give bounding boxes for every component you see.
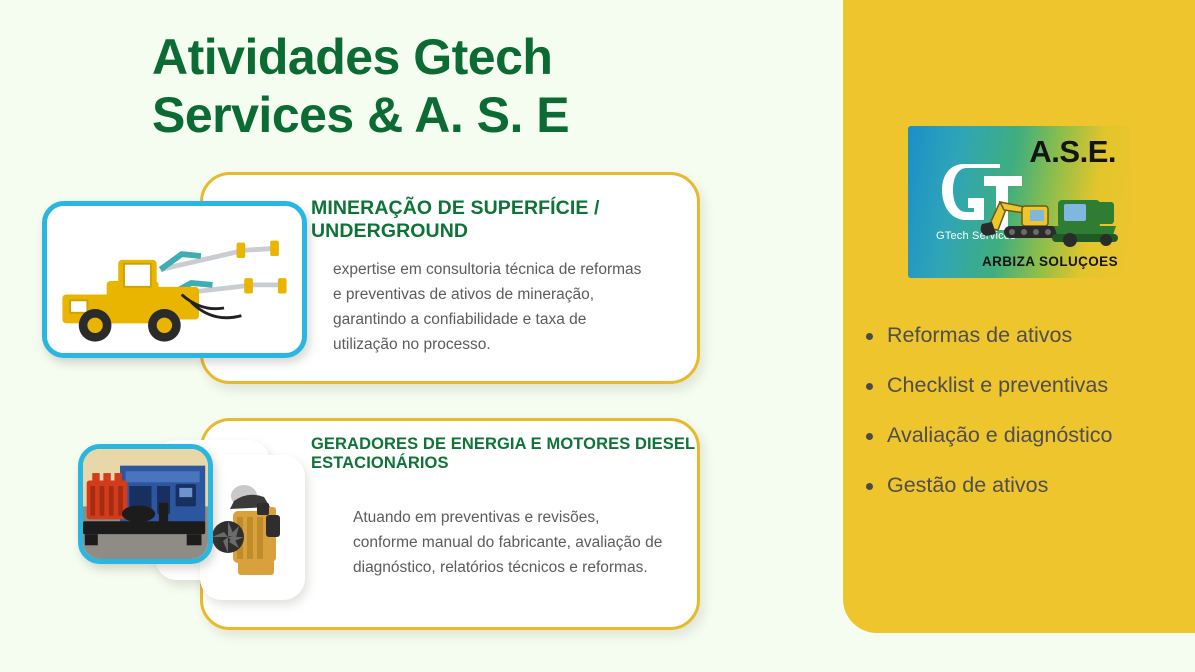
bullet-dot-icon: [866, 483, 873, 490]
list-item-label: Reformas de ativos: [887, 322, 1072, 349]
list-item-label: Gestão de ativos: [887, 472, 1048, 499]
drill-jumbo-icon: [47, 206, 302, 357]
list-item-label: Checklist e preventivas: [887, 372, 1108, 399]
card-heading-generators: GERADORES DE ENERGIA E MOTORES DIESEL ES…: [311, 435, 696, 474]
list-item[interactable]: Checklist e preventivas: [866, 372, 1176, 399]
logo-partner-label: A.S.E.: [1029, 134, 1116, 170]
machinery-illustration-icon: [974, 178, 1124, 256]
list-item-label: Avaliação e diagnóstico: [887, 422, 1113, 449]
photo-diesel-engine[interactable]: [200, 455, 305, 600]
page-title: Atividades GtechServices & A. S. E: [152, 28, 792, 144]
benefits-list: Reformas de ativos Checklist e preventiv…: [866, 322, 1176, 522]
logo-partner-tagline: ARBIZA SOLUÇOES: [982, 254, 1118, 269]
logo-gtech-ase[interactable]: GTech Services A.S.E. ARBIZA SOLUÇOES: [908, 126, 1130, 278]
list-item[interactable]: Reformas de ativos: [866, 322, 1176, 349]
slide-canvas: Atividades GtechServices & A. S. E MINER…: [0, 0, 1195, 672]
card-body-mining: expertise em consultoria técnica de refo…: [333, 257, 653, 357]
photo-generator-set[interactable]: [78, 444, 213, 564]
photo-underground-drill[interactable]: [42, 201, 307, 358]
bullet-dot-icon: [866, 383, 873, 390]
list-item[interactable]: Avaliação e diagnóstico: [866, 422, 1176, 449]
list-item[interactable]: Gestão de ativos: [866, 472, 1176, 499]
card-body-generators: Atuando em preventivas e revisões, confo…: [353, 505, 663, 580]
sidebar-panel: [843, 0, 1195, 633]
diesel-engine-icon: [200, 455, 305, 600]
generator-set-icon: [83, 449, 208, 560]
bullet-dot-icon: [866, 333, 873, 340]
card-heading-mining: MINERAÇÃO DE SUPERFÍCIE / UNDERGROUND: [311, 197, 691, 243]
bullet-dot-icon: [866, 433, 873, 440]
